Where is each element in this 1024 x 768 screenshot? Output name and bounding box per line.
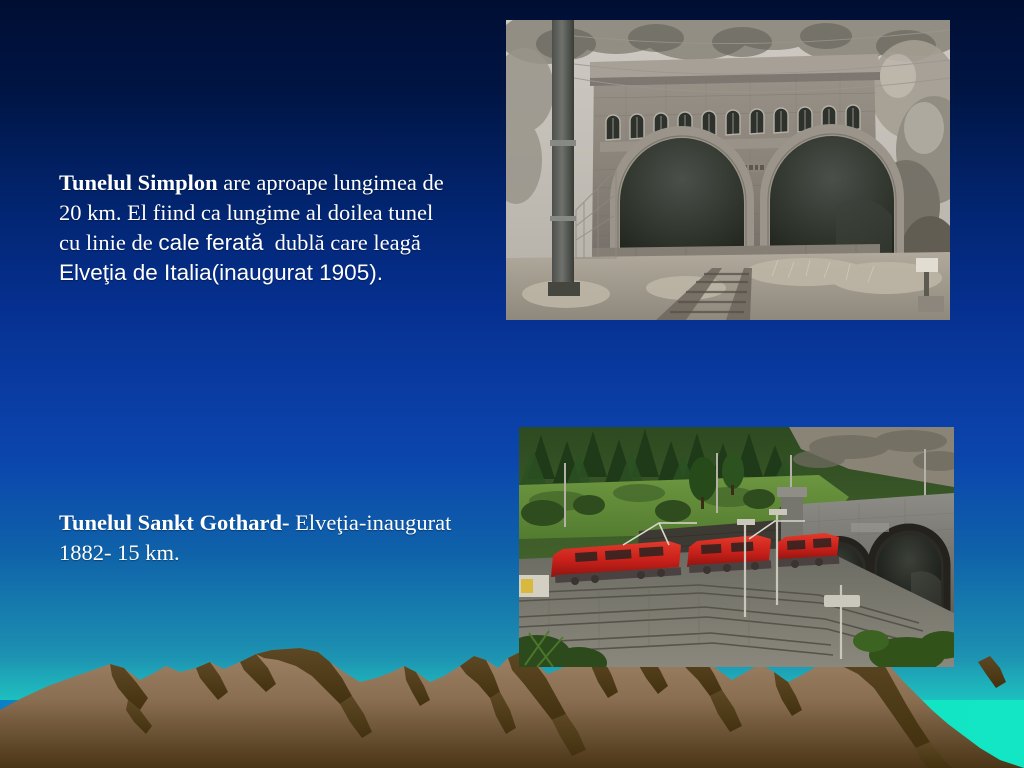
slide-canvas: Tunelul Simplon are aproape lungimea de …: [0, 0, 1024, 768]
text-block-simplon: Tunelul Simplon are aproape lungimea de …: [59, 168, 459, 288]
simplon-body-sans-1: cale ferată: [158, 230, 263, 255]
simplon-bold-lead: Tunelul Simplon: [59, 170, 218, 195]
simplon-spacer-1: [263, 230, 274, 255]
text-block-gotthard: Tunelul Sankt Gothard- Elveţia-inaugurat…: [59, 508, 459, 568]
simplon-body-serif-2: dublă care leagă: [275, 230, 421, 255]
simplon-portal-illustration: [506, 20, 950, 320]
gotthard-bold-lead: Tunelul Sankt Gothard-: [59, 510, 290, 535]
photo-gotthard-tunnel-portal: [519, 427, 954, 667]
lineside-wagon: [519, 575, 549, 597]
gotthard-portal-illustration: [519, 427, 954, 667]
simplon-body-sans-2: Elveţia de Italia(inaugurat 1905).: [59, 260, 383, 285]
photo-simplon-tunnel-portal: [506, 20, 950, 320]
